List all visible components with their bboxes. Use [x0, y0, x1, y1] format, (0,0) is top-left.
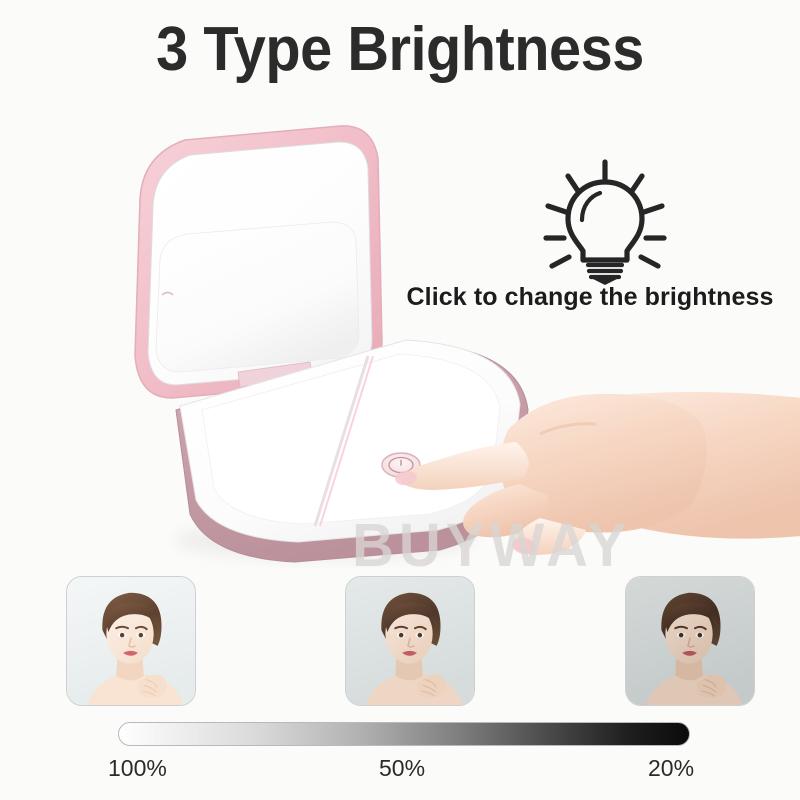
brand-watermark: BUYWAY [352, 510, 631, 580]
brightness-samples [0, 576, 800, 708]
brightness-label-20: 20% [648, 755, 694, 782]
page-title: 3 Type Brightness [28, 14, 772, 85]
brightness-sample-100[interactable] [66, 576, 196, 706]
lid-light-panel [156, 222, 359, 372]
brightness-sample-20[interactable] [625, 576, 755, 706]
lightbulb-icon [538, 158, 672, 286]
brightness-gradient-bar[interactable] [118, 722, 690, 746]
brightness-percent-labels: 100% 50% 20% [0, 755, 800, 785]
bulb-highlight [582, 193, 600, 220]
brightness-label-100: 100% [108, 755, 167, 782]
product-marketing-image: 3 Type Brightness [0, 0, 800, 800]
brightness-sample-50[interactable] [345, 576, 475, 706]
bulb-glass [568, 182, 642, 260]
brightness-label-50: 50% [379, 755, 425, 782]
feature-caption: Click to change the brightness [380, 283, 800, 312]
